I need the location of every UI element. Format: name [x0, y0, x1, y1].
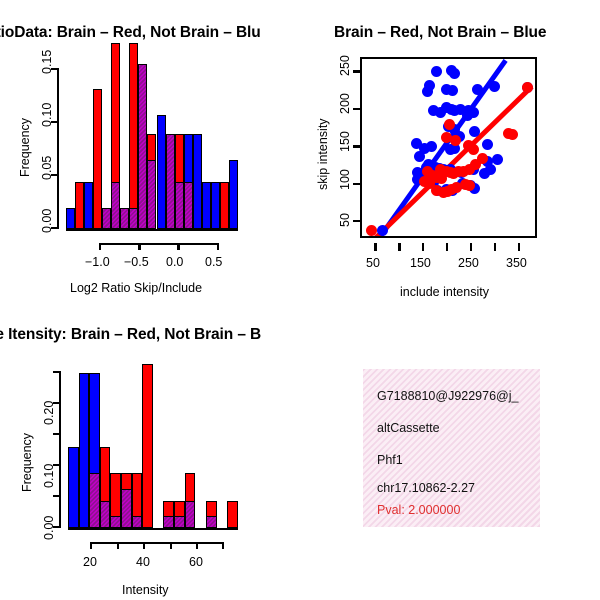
ratio-histogram-xlabel: Log2 Ratio Skip/Include — [70, 281, 202, 295]
intensity-y-tickmark-0.15 — [53, 433, 59, 435]
panel-ratio-histogram: RatioData: Brain – Red, Not Brain – Blu … — [0, 0, 300, 300]
scatter-y-tickmark-150 — [353, 145, 360, 147]
intensity-x-tick-label-60: 60 — [189, 555, 203, 569]
ratio-y-tick-1: 0.05 — [40, 156, 54, 180]
intensity-y-tickmark-0.05 — [53, 495, 59, 497]
ratio-x-tickmark-2 — [177, 243, 179, 250]
intensity-x-tick-label-20: 20 — [83, 555, 97, 569]
ratio-x-tickmark-3 — [217, 243, 219, 250]
intensity-y-tickmark-0.00 — [53, 526, 59, 528]
scatter-point-brain — [507, 129, 518, 140]
info-event-id: G7188810@J922976@j_ — [377, 389, 518, 403]
ratio-x-tick-label-3: 0.5 — [205, 255, 222, 269]
intensity-y-tickmark-0.10 — [53, 464, 59, 466]
ratio-y-axis — [57, 68, 59, 229]
ratio-x-tickmark-0 — [99, 243, 101, 250]
scatter-x-tick-label-250: 250 — [458, 256, 479, 270]
ratio-bar-blue — [193, 134, 202, 229]
scatter-y-tickmark-100 — [353, 183, 360, 185]
event-info-box: G7188810@J922976@j_ altCassette Phf1 chr… — [363, 369, 540, 527]
scatter-y-tick-150: 150 — [338, 131, 352, 152]
scatter-xlabel: include intensity — [400, 285, 489, 299]
intensity-histogram-title: ne Itensity: Brain – Red, Not Brain – B — [0, 326, 261, 344]
intensity-bar-overlap — [110, 516, 121, 528]
ratio-x-tickmark-1 — [138, 243, 140, 250]
ratio-bar-red — [220, 182, 229, 230]
info-gene-name: Phf1 — [377, 453, 403, 467]
ratio-bar-overlap — [129, 208, 138, 229]
ratio-y-tick-2: 0.10 — [40, 103, 54, 127]
intensity-bar-overlap — [174, 516, 185, 528]
ratio-histogram-ylabel: Frequency — [18, 118, 32, 177]
ratio-bar-blue — [202, 182, 211, 230]
scatter-x-tick-label-350: 350 — [506, 256, 527, 270]
ratio-x-axis-ruler — [99, 243, 218, 245]
ratio-y-tickmark-0 — [51, 227, 57, 229]
intensity-x-tick-label-40: 40 — [136, 555, 150, 569]
ratio-histogram-title: RatioData: Brain – Red, Not Brain – Blu — [0, 24, 261, 42]
intensity-bar-blue — [68, 447, 79, 528]
ratio-bar-blue — [66, 208, 75, 229]
ratio-bar-overlap — [166, 134, 175, 229]
ratio-y-tick-3: 0.15 — [40, 50, 54, 74]
scatter-y-tick-100: 100 — [338, 169, 352, 190]
ratio-x-axis — [66, 229, 238, 231]
ratio-bar-blue — [229, 160, 238, 230]
scatter-x-tick-label-150: 150 — [410, 256, 431, 270]
scatter-y-tick-200: 200 — [338, 93, 352, 114]
scatter-y-tickmark-50 — [353, 220, 360, 222]
intensity-histogram-plot-area — [68, 358, 238, 528]
scatter-x-tickmark — [374, 243, 376, 251]
ratio-y-tick-0: 0.00 — [40, 209, 54, 233]
ratio-bar-red — [93, 89, 102, 230]
scatter-y-tickmark-250 — [353, 70, 360, 72]
intensity-y-tickmark-0.20 — [53, 402, 59, 404]
intensity-x-tickmark-50 — [170, 542, 172, 549]
intensity-bar-overlap — [206, 516, 217, 528]
scatter-point-not-brain — [469, 126, 480, 137]
scatter-point-not-brain — [472, 84, 483, 95]
ratio-bar-overlap — [147, 160, 156, 230]
ratio-bar-blue — [84, 182, 93, 230]
ratio-y-tickmark-1 — [51, 174, 57, 176]
intensity-x-tickmark-70 — [222, 542, 224, 549]
figure-canvas: RatioData: Brain – Red, Not Brain – Blu … — [0, 0, 600, 600]
ratio-bar-overlap — [175, 182, 184, 230]
scatter-point-brain — [477, 153, 488, 164]
ratio-bar-red — [75, 182, 84, 230]
intensity-bar-overlap — [185, 501, 196, 528]
ratio-histogram-plot-area — [66, 60, 238, 229]
scatter-y-tick-250: 250 — [338, 55, 352, 76]
intensity-histogram-xlabel: Intensity — [122, 583, 169, 597]
scatter-plot-area — [360, 57, 537, 238]
info-locus: chr17.10862-2.27 — [377, 481, 475, 495]
scatter-x-tickmark — [446, 243, 448, 251]
scatter-point-not-brain — [449, 68, 460, 79]
intensity-bar-overlap — [100, 501, 111, 528]
intensity-x-tickmark-40 — [143, 542, 145, 549]
panel-intensity-histogram: ne Itensity: Brain – Red, Not Brain – B … — [0, 300, 300, 600]
panel-intensity-scatter: Brain – Red, Not Brain – Blue skip inten… — [300, 0, 600, 300]
scatter-point-brain — [468, 144, 479, 155]
scatter-point-not-brain — [447, 85, 458, 96]
intensity-x-axis — [68, 528, 238, 530]
intensity-y-tickmark-0.25 — [53, 371, 59, 373]
ratio-bar-overlap — [111, 182, 120, 230]
scatter-point-not-brain — [485, 164, 496, 175]
intensity-bar-overlap — [89, 473, 100, 528]
info-pval: Pval: 2.000000 — [377, 503, 460, 517]
ratio-bar-overlap — [138, 64, 147, 229]
ratio-bar-overlap — [120, 208, 129, 229]
intensity-y-tick-10: 0.10 — [42, 464, 56, 488]
scatter-point-not-brain — [426, 141, 437, 152]
scatter-ylabel: skip intensity — [316, 118, 330, 190]
scatter-point-brain — [436, 173, 447, 184]
ratio-bar-blue — [211, 182, 220, 230]
ratio-bar-blue — [157, 115, 166, 230]
ratio-y-tickmark-3 — [51, 68, 57, 70]
scatter-x-tick-label-50: 50 — [366, 256, 380, 270]
scatter-point-not-brain — [468, 107, 479, 118]
scatter-x-tickmark — [518, 243, 520, 251]
intensity-y-axis — [59, 371, 61, 528]
scatter-point-not-brain — [492, 154, 503, 165]
scatter-x-tickmark — [494, 243, 496, 251]
ratio-bar-red — [129, 43, 138, 230]
intensity-bar-blue — [79, 373, 90, 528]
intensity-bar-overlap — [121, 489, 132, 528]
ratio-x-tick-label-1: −0.5 — [124, 255, 149, 269]
intensity-x-axis-ruler — [90, 542, 222, 544]
intensity-bar-overlap — [132, 516, 143, 528]
ratio-x-tick-label-2: 0.0 — [166, 255, 183, 269]
intensity-x-tickmark-30 — [117, 542, 119, 549]
scatter-x-tickmark — [422, 243, 424, 251]
ratio-x-tick-label-0: −1.0 — [85, 255, 110, 269]
intensity-x-tickmark-60 — [196, 542, 198, 549]
intensity-y-tick-20: 0.20 — [42, 401, 56, 425]
scatter-y-tick-50: 50 — [338, 213, 352, 227]
ratio-bar-overlap — [184, 182, 193, 230]
scatter-point-brain — [464, 180, 475, 191]
scatter-x-tickmark — [398, 243, 400, 251]
scatter-point-not-brain — [489, 81, 500, 92]
scatter-title: Brain – Red, Not Brain – Blue — [334, 24, 546, 42]
scatter-x-tickmark — [470, 243, 472, 251]
intensity-histogram-ylabel: Frequency — [20, 433, 34, 492]
info-event-type: altCassette — [377, 421, 440, 435]
intensity-bar-red — [227, 501, 238, 528]
intensity-x-tickmark-20 — [90, 542, 92, 549]
intensity-bar-red — [142, 364, 153, 528]
intensity-bar-overlap — [163, 516, 174, 528]
ratio-y-tickmark-2 — [51, 121, 57, 123]
scatter-y-tickmark-200 — [353, 108, 360, 110]
ratio-bar-overlap — [102, 208, 111, 229]
